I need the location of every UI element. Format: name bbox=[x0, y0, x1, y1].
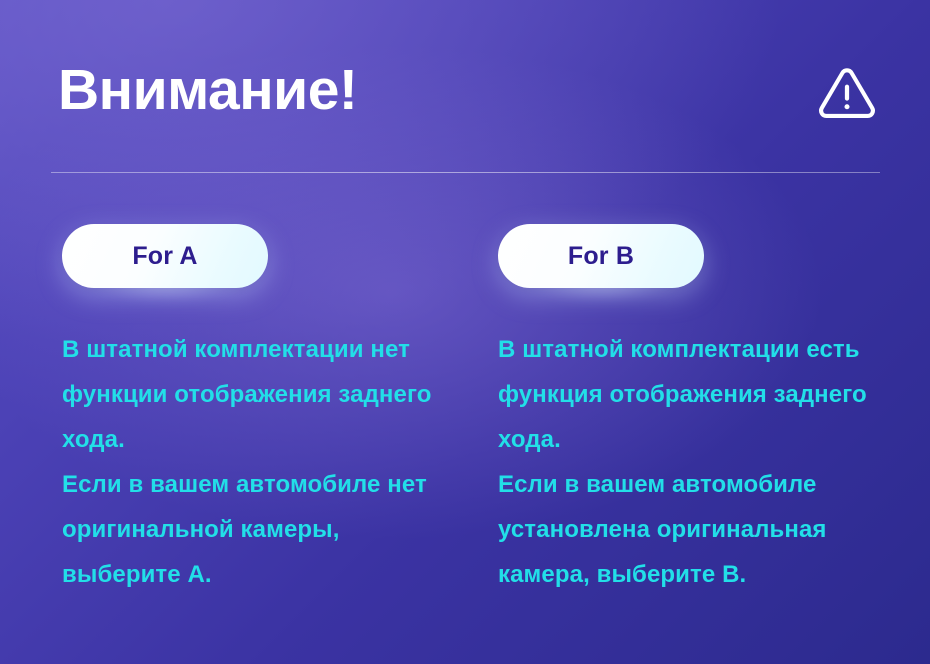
header-divider bbox=[51, 172, 880, 173]
for-a-button[interactable]: For A bbox=[62, 224, 268, 288]
option-a-paragraph-2: Если в вашем автомобиле нет оригинальной… bbox=[62, 462, 454, 597]
header: Внимание! bbox=[0, 0, 930, 172]
option-column-b: For B В штатной комплектации есть функци… bbox=[498, 224, 898, 597]
for-a-label: For A bbox=[132, 244, 197, 269]
option-column-a: For A В штатной комплектации нет функции… bbox=[62, 224, 462, 597]
for-b-button[interactable]: For B bbox=[498, 224, 704, 288]
warning-notice-slide: Внимание! For A В штатной комплектации н… bbox=[0, 0, 930, 664]
page-title: Внимание! bbox=[58, 55, 357, 125]
warning-triangle-icon bbox=[816, 64, 878, 122]
for-b-pill-wrapper: For B bbox=[498, 224, 704, 288]
for-a-pill-wrapper: For A bbox=[62, 224, 268, 288]
option-b-paragraph-1: В штатной комплектации есть функция отоб… bbox=[498, 327, 890, 462]
option-a-paragraph-1: В штатной комплектации нет функции отобр… bbox=[62, 327, 454, 462]
option-b-paragraph-2: Если в вашем автомобиле установлена ориг… bbox=[498, 462, 890, 597]
option-b-description: В штатной комплектации есть функция отоб… bbox=[498, 288, 890, 597]
option-a-description: В штатной комплектации нет функции отобр… bbox=[62, 288, 454, 597]
for-b-label: For B bbox=[568, 244, 634, 269]
